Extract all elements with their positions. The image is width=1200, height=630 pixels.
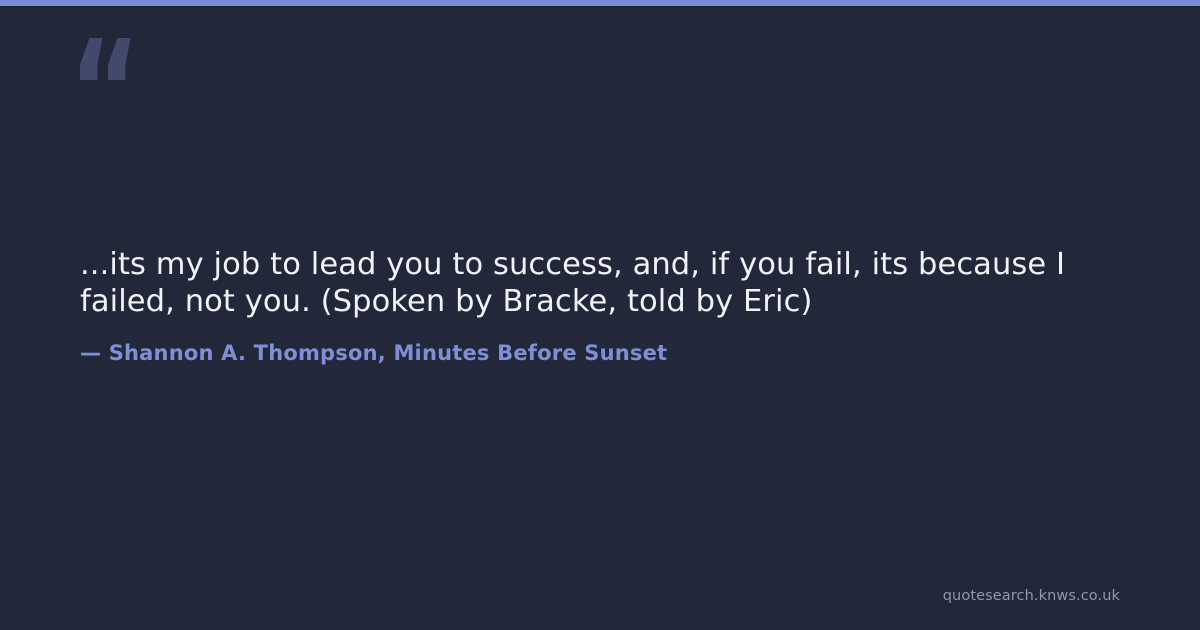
quote-text: ...its my job to lead you to success, an… [80, 246, 1120, 320]
accent-bar [0, 0, 1200, 6]
quote-card: ...its my job to lead you to success, an… [0, 0, 1200, 630]
quote-attribution: — Shannon A. Thompson, Minutes Before Su… [80, 339, 667, 367]
source-website-url: quotesearch.knws.co.uk [943, 587, 1120, 605]
quote-body: ...its my job to lead you to success, an… [80, 246, 1120, 320]
double-quote-open-icon [80, 38, 132, 80]
